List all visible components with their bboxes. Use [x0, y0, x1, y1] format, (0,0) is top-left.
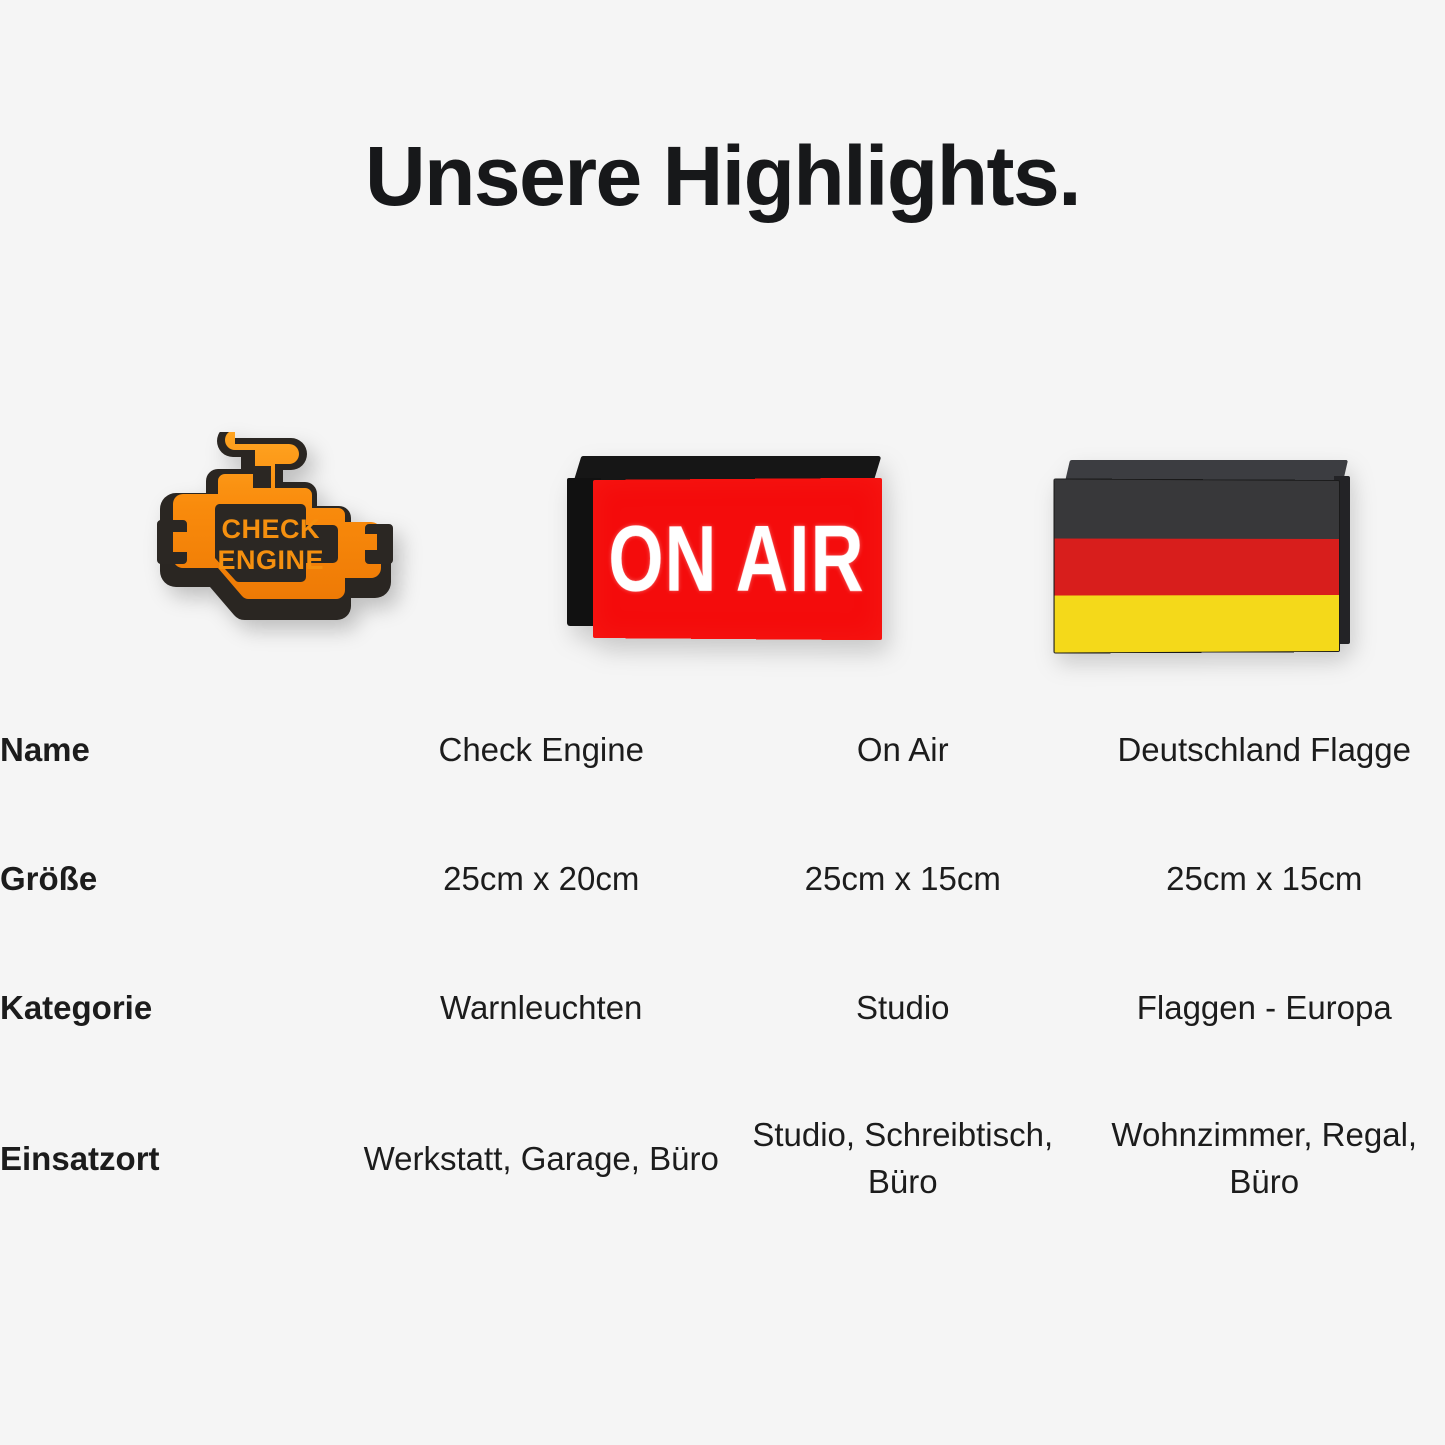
- table-row: Größe 25cm x 20cm 25cm x 15cm 25cm x 15c…: [0, 815, 1445, 944]
- cell-kategorie-col1: Warnleuchten: [360, 944, 722, 1073]
- product-comparison-table: Name Check Engine On Air Deutschland Fla…: [0, 686, 1445, 1245]
- cell-name-col2: On Air: [722, 686, 1084, 815]
- flag-band-black: [1055, 479, 1339, 539]
- cell-groesse-col1: 25cm x 20cm: [360, 815, 722, 944]
- row-label-einsatzort: Einsatzort: [0, 1073, 360, 1245]
- product-image-check-engine[interactable]: CHECK ENGINE: [0, 404, 482, 670]
- product-image-deutschland-flagge[interactable]: [963, 404, 1445, 670]
- row-label-kategorie: Kategorie: [0, 944, 360, 1073]
- page-title: Unsere Highlights.: [0, 132, 1445, 220]
- cell-kategorie-col2: Studio: [722, 944, 1084, 1073]
- row-label-groesse: Größe: [0, 815, 360, 944]
- table-row: Kategorie Warnleuchten Studio Flaggen - …: [0, 944, 1445, 1073]
- table-row: Name Check Engine On Air Deutschland Fla…: [0, 686, 1445, 815]
- cell-kategorie-col3: Flaggen - Europa: [1083, 944, 1445, 1073]
- on-air-icon: ON AIR: [567, 456, 877, 656]
- check-engine-icon: CHECK ENGINE: [121, 432, 421, 656]
- cell-groesse-col3: 25cm x 15cm: [1083, 815, 1445, 944]
- cell-groesse-col2: 25cm x 15cm: [722, 815, 1084, 944]
- flag-band-yellow: [1055, 595, 1339, 653]
- flag-box-face: [1054, 478, 1340, 653]
- product-image-on-air[interactable]: ON AIR: [482, 404, 964, 670]
- product-image-row: CHECK ENGINE ON AIR: [0, 404, 1445, 670]
- on-air-box-face: ON AIR: [593, 478, 882, 640]
- cell-name-col1: Check Engine: [360, 686, 722, 815]
- germany-flag-icon: [1058, 460, 1350, 656]
- cell-einsatzort-col1: Werkstatt, Garage, Büro: [360, 1073, 722, 1245]
- cell-name-col3: Deutschland Flagge: [1083, 686, 1445, 815]
- cell-einsatzort-col2: Studio, Schreibtisch, Büro: [722, 1073, 1084, 1245]
- table-row: Einsatzort Werkstatt, Garage, Büro Studi…: [0, 1073, 1445, 1245]
- row-label-name: Name: [0, 686, 360, 815]
- on-air-face-text: ON AIR: [609, 505, 865, 614]
- flag-band-red: [1055, 539, 1339, 596]
- cell-einsatzort-col3: Wohnzimmer, Regal, Büro: [1083, 1073, 1445, 1245]
